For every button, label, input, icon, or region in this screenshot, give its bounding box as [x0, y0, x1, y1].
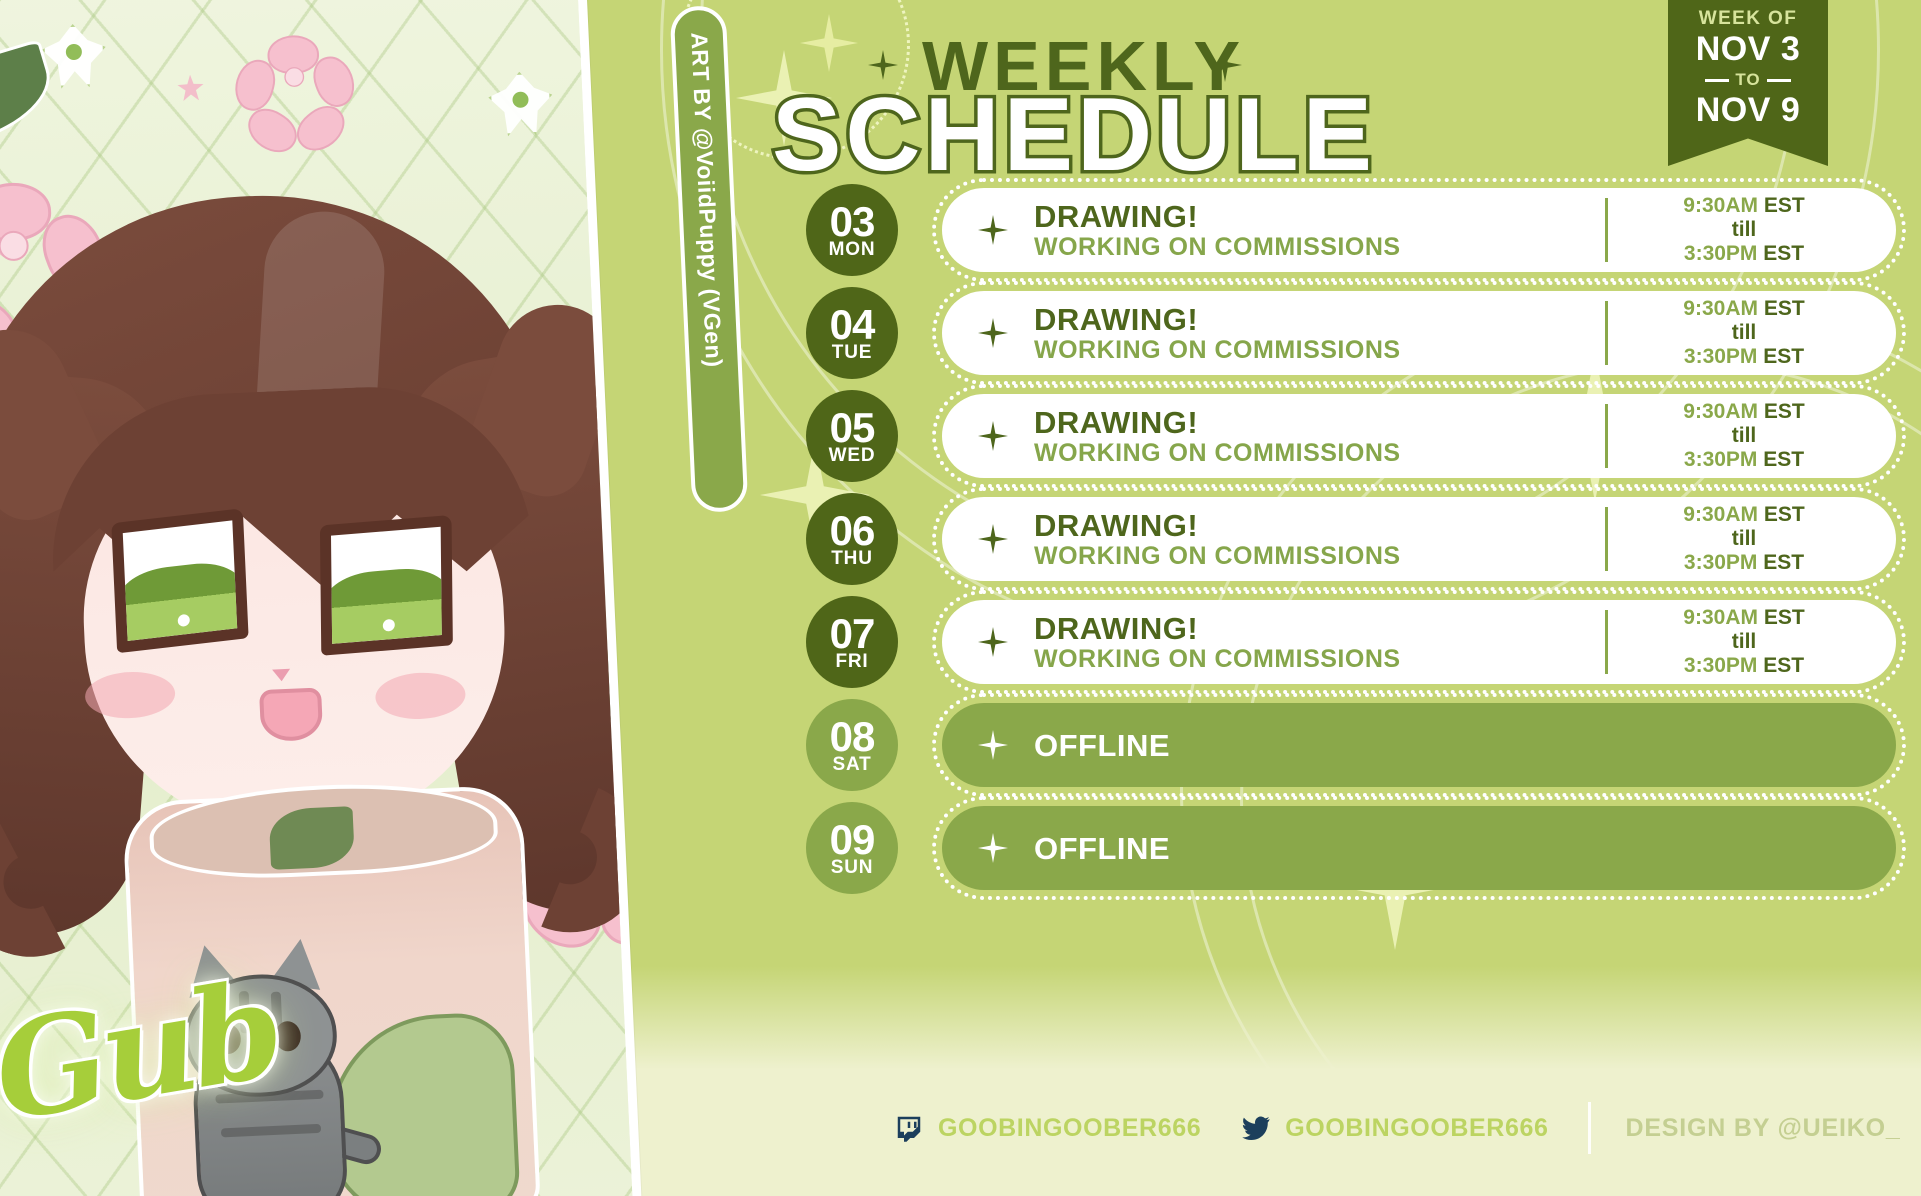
character-eye-right	[320, 515, 453, 656]
day-name: MON	[829, 240, 876, 259]
time-till-label: till	[1634, 527, 1854, 551]
row-text: DRAWING!WORKING ON COMMISSIONS	[1034, 509, 1605, 570]
time-end: 3:30PM EST	[1634, 551, 1854, 575]
schedule-row[interactable]: 06THUDRAWING!WORKING ON COMMISSIONS9:30A…	[806, 493, 1906, 585]
row-subtitle: WORKING ON COMMISSIONS	[1034, 542, 1605, 570]
time-start: 9:30AM EST	[1634, 606, 1854, 630]
time-start: 9:30AM EST	[1634, 400, 1854, 424]
sparkle-icon	[978, 215, 1008, 245]
time-till-label: till	[1634, 218, 1854, 242]
row-subtitle: WORKING ON COMMISSIONS	[1034, 439, 1605, 467]
row-pill-dotted-border: DRAWING!WORKING ON COMMISSIONS9:30AM EST…	[932, 384, 1906, 488]
time-start-tz: EST	[1764, 194, 1805, 217]
day-name: WED	[829, 446, 876, 465]
art-credit-label: ART BY @VoiidPuppy (VGen)	[685, 32, 727, 368]
week-start-date: NOV 3	[1668, 30, 1828, 68]
row-title: DRAWING!	[1034, 509, 1605, 542]
day-badge[interactable]: 08SAT	[806, 699, 898, 791]
time-end-tz: EST	[1763, 551, 1804, 574]
time-till-label: till	[1634, 424, 1854, 448]
footer-divider	[1588, 1102, 1591, 1154]
row-subtitle: WORKING ON COMMISSIONS	[1034, 336, 1605, 364]
row-title: DRAWING!	[1034, 303, 1605, 336]
day-badge[interactable]: 05WED	[806, 390, 898, 482]
time-divider	[1605, 610, 1608, 674]
day-name: FRI	[835, 652, 868, 671]
schedule-rows: 03MONDRAWING!WORKING ON COMMISSIONS9:30A…	[806, 184, 1906, 905]
time-end-value: 3:30PM	[1684, 448, 1758, 471]
schedule-row[interactable]: 04TUEDRAWING!WORKING ON COMMISSIONS9:30A…	[806, 287, 1906, 379]
row-pill[interactable]: DRAWING!WORKING ON COMMISSIONS9:30AM EST…	[942, 291, 1896, 375]
day-badge[interactable]: 03MON	[806, 184, 898, 276]
twitter-link[interactable]: GOOBINGOOBER666	[1241, 1113, 1548, 1143]
week-to-row: TO	[1668, 70, 1828, 90]
day-name: SUN	[831, 858, 874, 877]
schedule-row[interactable]: 08SATOFFLINE	[806, 699, 1906, 791]
row-time-block: 9:30AM ESTtill3:30PM EST	[1605, 503, 1854, 575]
row-text: DRAWING!WORKING ON COMMISSIONS	[1034, 406, 1605, 467]
day-name: THU	[831, 549, 872, 568]
row-title: DRAWING!	[1034, 612, 1605, 645]
sparkle-icon	[978, 627, 1008, 657]
twitter-handle: GOOBINGOOBER666	[1285, 1114, 1548, 1143]
day-name: TUE	[832, 343, 872, 362]
time-end-tz: EST	[1763, 242, 1804, 265]
row-pill[interactable]: DRAWING!WORKING ON COMMISSIONS9:30AM EST…	[942, 188, 1896, 272]
schedule-row[interactable]: 09SUNOFFLINE	[806, 802, 1906, 894]
row-pill-dotted-border: DRAWING!WORKING ON COMMISSIONS9:30AM EST…	[932, 178, 1906, 282]
day-number: 04	[830, 304, 875, 346]
row-pill[interactable]: DRAWING!WORKING ON COMMISSIONS9:30AM EST…	[942, 497, 1896, 581]
footer: GOOBINGOOBER666 GOOBINGOOBER666 DESIGN B…	[894, 1102, 1901, 1154]
artwork-illustration: Gub	[0, 0, 633, 1196]
header: WEEKLY SCHEDULE	[760, 10, 1660, 180]
time-till-label: till	[1634, 630, 1854, 654]
time-lines: 9:30AM ESTtill3:30PM EST	[1634, 297, 1854, 369]
sparkle-icon	[978, 421, 1008, 451]
row-pill-dotted-border: DRAWING!WORKING ON COMMISSIONS9:30AM EST…	[932, 281, 1906, 385]
time-lines: 9:30AM ESTtill3:30PM EST	[1634, 194, 1854, 266]
design-credit: DESIGN BY @UEIKO_	[1625, 1114, 1900, 1143]
time-end: 3:30PM EST	[1634, 242, 1854, 266]
divider-line	[1767, 79, 1791, 82]
day-number: 06	[830, 510, 875, 552]
time-start-tz: EST	[1764, 297, 1805, 320]
time-end-value: 3:30PM	[1684, 654, 1758, 677]
time-start-tz: EST	[1764, 606, 1805, 629]
time-lines: 9:30AM ESTtill3:30PM EST	[1634, 503, 1854, 575]
row-time-block: 9:30AM ESTtill3:30PM EST	[1605, 194, 1854, 266]
row-title: DRAWING!	[1034, 200, 1605, 233]
row-text: DRAWING!WORKING ON COMMISSIONS	[1034, 303, 1605, 364]
schedule-row[interactable]: 07FRIDRAWING!WORKING ON COMMISSIONS9:30A…	[806, 596, 1906, 688]
day-number: 09	[830, 819, 875, 861]
row-title: OFFLINE	[1034, 832, 1896, 865]
day-number: 03	[830, 201, 875, 243]
divider-line	[1705, 79, 1729, 82]
day-badge[interactable]: 04TUE	[806, 287, 898, 379]
week-end-date: NOV 9	[1668, 91, 1828, 129]
time-end-tz: EST	[1763, 654, 1804, 677]
row-pill[interactable]: DRAWING!WORKING ON COMMISSIONS9:30AM EST…	[942, 600, 1896, 684]
row-pill[interactable]: OFFLINE	[942, 703, 1896, 787]
character-iris	[118, 559, 244, 642]
row-pill[interactable]: DRAWING!WORKING ON COMMISSIONS9:30AM EST…	[942, 394, 1896, 478]
day-badge[interactable]: 07FRI	[806, 596, 898, 688]
row-text: OFFLINE	[1034, 729, 1896, 762]
sparkle-icon	[978, 833, 1008, 863]
row-time-block: 9:30AM ESTtill3:30PM EST	[1605, 606, 1854, 678]
time-start-value: 9:30AM	[1683, 297, 1758, 320]
time-start-value: 9:30AM	[1683, 400, 1758, 423]
schedule-graphic: Gub ART BY @VoiidPuppy (VGen) WEEKLY SCH…	[0, 0, 1921, 1196]
time-divider	[1605, 198, 1608, 262]
time-end-value: 3:30PM	[1684, 551, 1758, 574]
time-start-value: 9:30AM	[1683, 503, 1758, 526]
row-text: OFFLINE	[1034, 832, 1896, 865]
row-subtitle: WORKING ON COMMISSIONS	[1034, 233, 1605, 261]
row-title: OFFLINE	[1034, 729, 1896, 762]
time-start-value: 9:30AM	[1683, 194, 1758, 217]
sparkle-icon	[978, 318, 1008, 348]
time-end: 3:30PM EST	[1634, 448, 1854, 472]
time-end-tz: EST	[1763, 345, 1804, 368]
row-pill-dotted-border: OFFLINE	[932, 693, 1906, 797]
sparkle-icon	[978, 524, 1008, 554]
character-iris	[325, 565, 449, 644]
row-subtitle: WORKING ON COMMISSIONS	[1034, 645, 1605, 673]
time-end-tz: EST	[1763, 448, 1804, 471]
artwork-flower-large	[243, 25, 346, 128]
row-pill-dotted-border: OFFLINE	[932, 796, 1906, 900]
day-number: 08	[830, 716, 875, 758]
sparkle-icon	[978, 730, 1008, 760]
row-pill-dotted-border: DRAWING!WORKING ON COMMISSIONS9:30AM EST…	[932, 590, 1906, 694]
character-nose	[272, 669, 291, 682]
row-text: DRAWING!WORKING ON COMMISSIONS	[1034, 612, 1605, 673]
row-pill-dotted-border: DRAWING!WORKING ON COMMISSIONS9:30AM EST…	[932, 487, 1906, 591]
week-to-label: TO	[1735, 70, 1760, 90]
time-end: 3:30PM EST	[1634, 654, 1854, 678]
time-lines: 9:30AM ESTtill3:30PM EST	[1634, 400, 1854, 472]
cat-stripe	[221, 1124, 321, 1138]
day-name: SAT	[833, 755, 872, 774]
week-of-label: WEEK OF	[1668, 8, 1828, 30]
character-eye-left	[111, 508, 248, 653]
time-start: 9:30AM EST	[1634, 503, 1854, 527]
day-badge[interactable]: 06THU	[806, 493, 898, 585]
schedule-row[interactable]: 05WEDDRAWING!WORKING ON COMMISSIONS9:30A…	[806, 390, 1906, 482]
schedule-row[interactable]: 03MONDRAWING!WORKING ON COMMISSIONS9:30A…	[806, 184, 1906, 276]
day-number: 05	[830, 407, 875, 449]
day-badge[interactable]: 09SUN	[806, 802, 898, 894]
time-start: 9:30AM EST	[1634, 297, 1854, 321]
time-start-tz: EST	[1764, 503, 1805, 526]
row-time-block: 9:30AM ESTtill3:30PM EST	[1605, 400, 1854, 472]
twitter-icon	[1241, 1113, 1271, 1143]
time-divider	[1605, 507, 1608, 571]
time-divider	[1605, 404, 1608, 468]
twitch-link[interactable]: GOOBINGOOBER666	[894, 1113, 1201, 1143]
row-pill[interactable]: OFFLINE	[942, 806, 1896, 890]
time-start-tz: EST	[1764, 400, 1805, 423]
row-text: DRAWING!WORKING ON COMMISSIONS	[1034, 200, 1605, 261]
time-end-value: 3:30PM	[1684, 242, 1758, 265]
time-till-label: till	[1634, 321, 1854, 345]
time-end-value: 3:30PM	[1684, 345, 1758, 368]
time-lines: 9:30AM ESTtill3:30PM EST	[1634, 606, 1854, 678]
twitch-icon	[894, 1113, 924, 1143]
row-title: DRAWING!	[1034, 406, 1605, 439]
row-time-block: 9:30AM ESTtill3:30PM EST	[1605, 297, 1854, 369]
time-start: 9:30AM EST	[1634, 194, 1854, 218]
day-number: 07	[830, 613, 875, 655]
time-start-value: 9:30AM	[1683, 606, 1758, 629]
artwork-card: Gub	[0, 0, 642, 1196]
time-divider	[1605, 301, 1608, 365]
time-end: 3:30PM EST	[1634, 345, 1854, 369]
twitch-handle: GOOBINGOOBER666	[938, 1114, 1201, 1143]
